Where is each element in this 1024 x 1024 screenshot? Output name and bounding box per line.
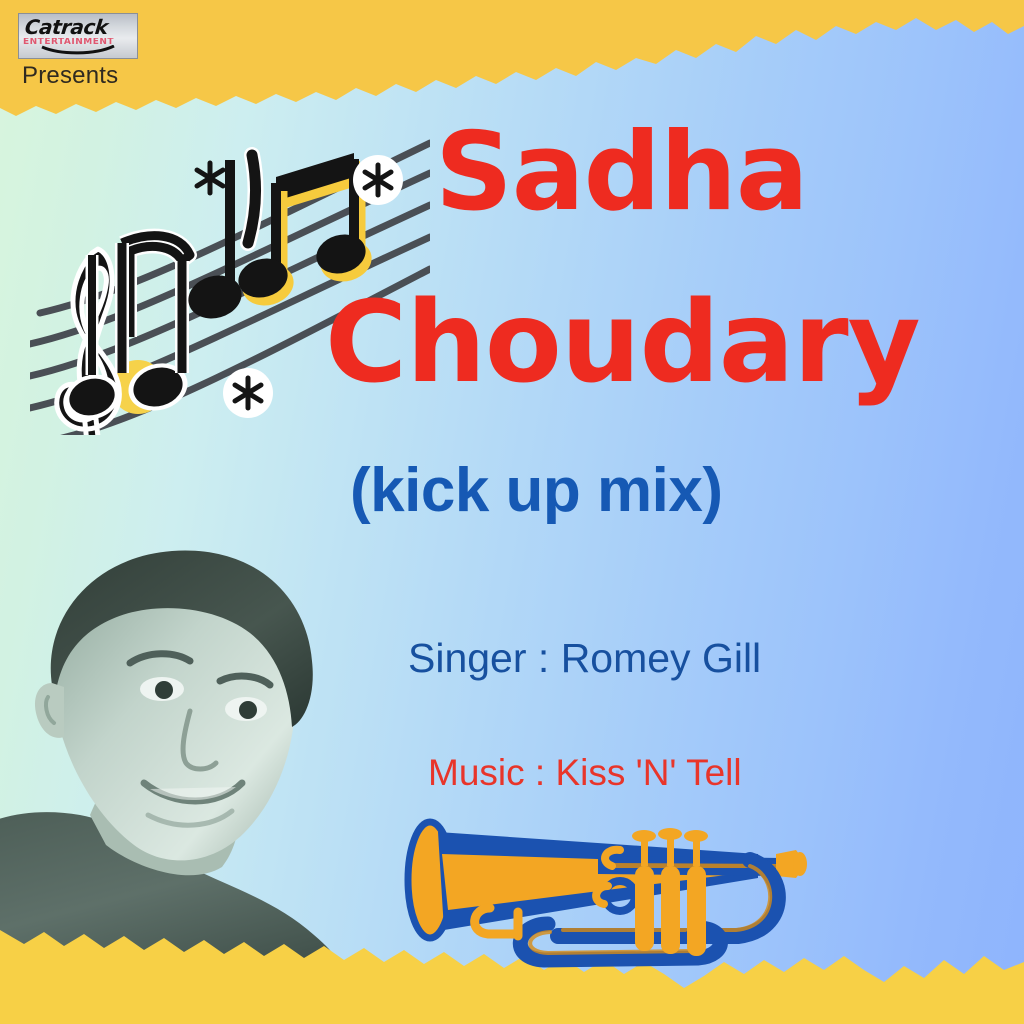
- ear: [35, 683, 64, 738]
- credit-music: Music : Kiss 'N' Tell: [428, 752, 742, 794]
- top-torn-band: [0, 0, 1024, 120]
- album-subtitle: (kick up mix): [350, 455, 723, 526]
- album-title-line-1: Sadha: [435, 117, 808, 229]
- trumpet-icon: [398, 808, 808, 993]
- logo-swoosh-icon: [41, 45, 115, 55]
- quarter-note-icon: [183, 155, 255, 325]
- album-cover: Sadha Choudary (kick up mix) Singer : Ro…: [0, 0, 1024, 1024]
- catrack-logo-wordmark: Catrack: [24, 15, 109, 39]
- album-title-line-2: Choudary: [325, 285, 920, 401]
- credit-singer: Singer : Romey Gill: [408, 635, 761, 682]
- catrack-logo[interactable]: Catrack ENTERTAINMENT: [18, 13, 138, 59]
- presents-label: Presents: [22, 62, 118, 90]
